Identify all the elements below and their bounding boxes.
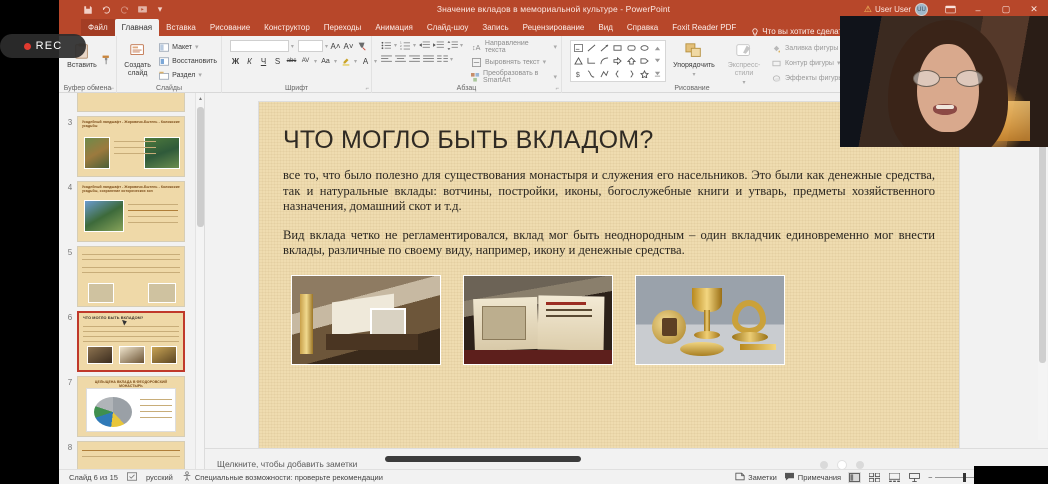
strikethrough-button[interactable]: abc <box>286 55 297 67</box>
screen: ▾ Значение вкладов в мемориальной культу… <box>0 0 1048 484</box>
avatar[interactable]: UU <box>915 3 928 16</box>
zoom-out-button[interactable]: − <box>928 473 932 482</box>
layout-button[interactable]: Макет▾ <box>158 41 217 53</box>
group-title-paragraph: Абзац <box>372 85 561 92</box>
shape-outline-icon <box>771 58 782 69</box>
glasses-icon <box>913 70 983 87</box>
shape-triangle[interactable] <box>572 55 585 68</box>
slide-images <box>283 275 935 365</box>
tab-review[interactable]: Рецензирование <box>516 19 592 36</box>
shape-freeform[interactable] <box>598 67 611 80</box>
tab-animations[interactable]: Анимация <box>368 19 420 36</box>
text-direction-icon: ↕A <box>471 42 482 53</box>
decrease-font-size-icon[interactable]: A˅ <box>343 40 354 52</box>
text-direction-button[interactable]: ↕A Направление текста▾ <box>471 41 557 53</box>
mouth <box>933 104 957 115</box>
tab-insert[interactable]: Вставка <box>159 19 203 36</box>
lightbulb-icon <box>751 28 759 36</box>
shape-outline-label: Контур фигуры <box>785 60 834 67</box>
dot-3 <box>856 461 864 469</box>
thumbnail-preview[interactable]: Усадебный ландшафт - Жировичи-Бытень - К… <box>77 181 185 242</box>
align-text-icon <box>471 57 482 68</box>
convert-smartart-button[interactable]: Преобразовать в SmartArt▾ <box>471 71 557 83</box>
ribbon-group-paragraph: ▾ 123 ▾ ▾ <box>372 36 562 93</box>
increase-font-size-icon[interactable]: A˄ <box>330 40 341 52</box>
paragraph-dialog-launcher[interactable]: ⌐ <box>555 86 559 92</box>
thumbnail-number: 6 <box>63 311 77 322</box>
reset-button[interactable]: Восстановить <box>158 55 217 67</box>
shape-textbox[interactable] <box>572 42 585 55</box>
thumbnail-number: 4 <box>63 181 77 192</box>
shape-left-brace[interactable] <box>611 67 624 80</box>
bullets-icon[interactable] <box>380 40 392 51</box>
align-text-label: Выровнять текст <box>485 59 540 66</box>
arrange-button[interactable]: Упорядочить ▾ <box>671 40 717 79</box>
quick-styles-button[interactable]: Экспресс-стили ▾ <box>722 40 766 87</box>
shape-outline-button[interactable]: Контур фигуры▾ <box>771 57 850 69</box>
tell-me-search[interactable]: Что вы хотите сделать? <box>743 27 850 36</box>
text-shadow-button[interactable]: S <box>272 55 283 67</box>
accessibility-icon[interactable] <box>182 471 192 483</box>
bold-button[interactable]: Ж <box>230 55 241 67</box>
comment-icon <box>784 472 795 483</box>
shape-curved-connector[interactable] <box>598 55 611 68</box>
clear-formatting-icon[interactable] <box>356 40 367 52</box>
align-center-icon[interactable] <box>394 54 406 65</box>
shapes-scroll-down-icon[interactable] <box>651 55 664 68</box>
thumbnail-number: 8 <box>63 441 77 452</box>
shape-curve[interactable] <box>585 67 598 80</box>
arrange-label: Упорядочить <box>673 62 715 70</box>
thumbnail-preview[interactable]: Усадебный ландшафт - Жировичи-Бытень - К… <box>77 116 185 177</box>
shape-fill-icon <box>771 43 782 54</box>
thumbnail-slide-6[interactable]: 6 ЧТО МОГЛО БЫТЬ ВКЛАДОМ? <box>59 307 204 372</box>
shape-oval[interactable] <box>638 42 651 55</box>
reading-view-icon[interactable] <box>888 472 901 483</box>
new-slide-icon <box>127 40 149 61</box>
shape-fill-label: Заливка фигуры <box>785 45 838 52</box>
slide-scroll-thumb[interactable] <box>1039 113 1046 363</box>
align-text-button[interactable]: Выровнять текст▾ <box>471 56 557 68</box>
tab-help[interactable]: Справка <box>620 19 665 36</box>
quick-styles-icon <box>733 40 755 61</box>
tab-design[interactable]: Конструктор <box>257 19 317 36</box>
notes-icon <box>735 472 745 483</box>
slide-image-church-interior[interactable] <box>291 275 441 365</box>
shape-pentagon[interactable] <box>638 55 651 68</box>
shape-star[interactable] <box>638 67 651 80</box>
accessibility-label[interactable]: Специальные возможности: проверьте реком… <box>195 473 383 482</box>
thumbnail-number: 7 <box>63 376 77 387</box>
shape-line[interactable] <box>585 42 598 55</box>
status-bar: Слайд 6 из 15 русский Специальные возмож… <box>59 469 1048 484</box>
thumbnail-preview[interactable]: ЦЕЛЬ/ЦЕНА ВКЛАДА В ФЕОДОРОВСКИЙ МОНАСТЫР… <box>77 376 185 437</box>
tab-view[interactable]: Вид <box>591 19 619 36</box>
shape-right-brace[interactable] <box>625 67 638 80</box>
tab-home[interactable]: Главная <box>115 19 159 36</box>
font-dialog-launcher[interactable]: ⌐ <box>365 86 369 92</box>
slide-position-dots <box>820 461 864 469</box>
notes-label: Заметки <box>748 473 777 482</box>
svg-text:↕A: ↕A <box>472 43 481 52</box>
shape-up-arrow[interactable] <box>625 55 638 68</box>
dot-1 <box>820 461 828 469</box>
thumbnail-preview[interactable] <box>77 246 185 307</box>
normal-view-icon[interactable] <box>848 472 861 483</box>
shape-rounded-rectangle[interactable] <box>625 42 638 55</box>
change-case-button[interactable]: Aa <box>320 55 331 67</box>
slide-counter[interactable]: Слайд 6 из 15 <box>69 473 118 482</box>
group-title-clipboard: Буфер обмена <box>59 85 116 92</box>
thumbnail-slide-3[interactable]: 3 Усадебный ландшафт - Жировичи-Бытень -… <box>59 112 204 177</box>
shape-fill-button[interactable]: Заливка фигуры▾ <box>771 42 850 54</box>
tab-file[interactable]: Файл <box>81 19 115 36</box>
shape-rectangle[interactable] <box>611 42 624 55</box>
text-direction-label: Направление текста <box>485 40 551 54</box>
section-icon <box>158 70 169 81</box>
paste-label: Вставить <box>67 62 97 70</box>
comments-label: Примечания <box>798 473 841 482</box>
thumbnail-scrollbar[interactable]: ▲ ▼ <box>195 93 204 484</box>
tell-me-label[interactable]: Что вы хотите сделать? <box>762 27 850 36</box>
new-slide-label: Создать слайд <box>121 62 154 78</box>
increase-indent-icon[interactable] <box>432 40 444 51</box>
thumbnail-preview[interactable] <box>77 93 185 112</box>
justify-icon[interactable] <box>422 54 434 65</box>
align-right-icon[interactable] <box>408 54 420 65</box>
dot-2 <box>838 461 846 469</box>
screenshare-bottom-right-gutter <box>974 466 1048 484</box>
numbering-icon[interactable]: 123 <box>399 40 411 51</box>
highlight-icon[interactable] <box>340 55 351 67</box>
shapes-more-icon[interactable] <box>651 67 664 80</box>
slide-thumbnail-panel[interactable]: 2 3 Усадебный ландшафт - Жировичи-Бытень… <box>59 93 205 484</box>
shapes-scroll-up-icon[interactable] <box>651 42 664 55</box>
thumbnail-slide-2[interactable]: 2 <box>59 93 204 112</box>
columns-icon[interactable] <box>436 54 448 65</box>
horizontal-scrollbar[interactable] <box>385 456 581 462</box>
warning-icon[interactable]: ⚠ <box>864 4 872 15</box>
ribbon-group-slides: Создать слайд Макет▾ <box>117 36 222 93</box>
format-painter-icon[interactable] <box>101 54 112 67</box>
thumbnail-title: Усадебный ландшафт - Жировичи-Бытень - К… <box>82 120 180 128</box>
slide-image-liturgical-vessels[interactable] <box>635 275 785 365</box>
webcam-person <box>905 36 991 147</box>
current-slide[interactable]: ЧТО МОГЛО БЫТЬ ВКЛАДОМ? все то, что было… <box>259 102 959 484</box>
thumbnail-number: 3 <box>63 116 77 127</box>
workspace: 2 3 Усадебный ландшафт - Жировичи-Бытень… <box>59 93 1048 484</box>
section-button[interactable]: Раздел▾ <box>158 69 217 81</box>
thumbnail-number: 5 <box>63 246 77 257</box>
slide-sorter-icon[interactable] <box>868 472 881 483</box>
new-slide-button[interactable]: Создать слайд <box>121 40 154 78</box>
tab-transitions[interactable]: Переходы <box>317 19 369 36</box>
slide-vertical-scrollbar[interactable] <box>1038 101 1047 440</box>
reset-icon <box>158 56 169 67</box>
ribbon-group-font: ▾ ▾ A˄ A˅ Ж К Ч S abc <box>222 36 372 93</box>
group-title-font: Шрифт <box>222 85 371 92</box>
italic-button[interactable]: К <box>244 55 255 67</box>
thumbnail-title: ЧТО МОГЛО БЫТЬ ВКЛАДОМ? <box>83 316 179 320</box>
record-dot-icon <box>24 43 31 50</box>
thumbnail-scroll-thumb[interactable] <box>197 107 204 227</box>
font-color-button[interactable]: A <box>360 55 371 67</box>
character-spacing-button[interactable]: AV <box>300 55 311 67</box>
tab-draw[interactable]: Рисование <box>203 19 257 36</box>
tab-slideshow[interactable]: Слайд-шоу <box>420 19 475 36</box>
thumbnail-scroll-up-icon[interactable]: ▲ <box>196 93 205 104</box>
spellcheck-icon[interactable] <box>127 472 137 483</box>
recording-label: REC <box>36 40 63 52</box>
arrange-icon <box>683 40 705 61</box>
group-title-drawing: Рисование <box>562 85 822 92</box>
smartart-icon <box>471 72 480 83</box>
font-size-input[interactable] <box>298 40 323 52</box>
webcam-overlay[interactable] <box>840 16 1048 147</box>
notes-button[interactable]: Заметки <box>735 472 777 483</box>
font-name-input[interactable] <box>230 40 289 52</box>
slide-editing-area: ЧТО МОГЛО БЫТЬ ВКЛАДОМ? все то, что было… <box>205 93 1048 484</box>
slideshow-icon[interactable] <box>908 472 921 483</box>
shape-effects-button[interactable]: Эффекты фигуры▾ <box>771 72 850 84</box>
slide-title[interactable]: ЧТО МОГЛО БЫТЬ ВКЛАДОМ? <box>283 126 935 155</box>
thumbnail-slide-7[interactable]: 7 ЦЕЛЬ/ЦЕНА ВКЛАДА В ФЕОДОРОВСКИЙ МОНАСТ… <box>59 372 204 437</box>
clipboard-dialog-launcher[interactable]: ⌐ <box>110 86 114 92</box>
quick-styles-label: Экспресс-стили <box>722 62 766 78</box>
thumbnail-slide-5[interactable]: 5 <box>59 242 204 307</box>
slide-paragraph-2[interactable]: Вид вклада четко не регламентировался, в… <box>283 228 935 259</box>
layout-label: Макет <box>172 44 192 51</box>
line-spacing-icon[interactable] <box>446 40 458 51</box>
thumbnail-preview[interactable]: ЧТО МОГЛО БЫТЬ ВКЛАДОМ? <box>77 311 185 372</box>
shapes-gallery[interactable]: $ <box>570 40 666 82</box>
zoom-thumb[interactable] <box>963 473 966 482</box>
screenshare-bottom-left-gutter <box>0 466 59 484</box>
recording-indicator[interactable]: REC <box>0 34 86 58</box>
shape-effects-label: Эффекты фигуры <box>785 75 843 82</box>
section-label: Раздел <box>172 72 195 79</box>
convert-smartart-label: Преобразовать в SmartArt <box>483 70 550 84</box>
language-label[interactable]: русский <box>146 473 173 482</box>
account-name[interactable]: User User <box>875 5 911 14</box>
group-title-slides: Слайды <box>117 85 221 92</box>
shape-effects-icon <box>771 73 782 84</box>
layout-icon <box>158 42 169 53</box>
screenshare-left-gutter <box>0 0 59 484</box>
slide-image-old-book[interactable] <box>463 275 613 365</box>
svg-text:$: $ <box>576 71 580 78</box>
align-left-icon[interactable] <box>380 54 392 65</box>
slide-paragraph-1[interactable]: все то, что было полезно для существован… <box>283 168 935 215</box>
thumbnail-title: ЦЕЛЬ/ЦЕНА ВКЛАДА В ФЕОДОРОВСКИЙ МОНАСТЫР… <box>88 380 174 388</box>
shape-right-arrow[interactable] <box>611 55 624 68</box>
underline-button[interactable]: Ч <box>258 55 269 67</box>
shape-elbow-connector[interactable] <box>585 55 598 68</box>
thumbnail-slide-4[interactable]: 4 Усадебный ландшафт - Жировичи-Бытень -… <box>59 177 204 242</box>
notes-placeholder[interactable]: Щелкните, чтобы добавить заметки <box>217 459 357 469</box>
svg-text:3: 3 <box>400 47 402 50</box>
reset-label: Восстановить <box>172 58 217 65</box>
decrease-indent-icon[interactable] <box>418 40 430 51</box>
face <box>917 44 979 132</box>
thumbnail-title: Усадебный ландшафт - Жировичи-Бытень - К… <box>82 185 180 193</box>
shape-arrow[interactable] <box>598 42 611 55</box>
shape-dollar[interactable]: $ <box>572 67 585 80</box>
comments-button[interactable]: Примечания <box>784 472 841 483</box>
tab-record[interactable]: Запись <box>475 19 515 36</box>
tab-foxit-reader-pdf[interactable]: Foxit Reader PDF <box>665 19 743 36</box>
